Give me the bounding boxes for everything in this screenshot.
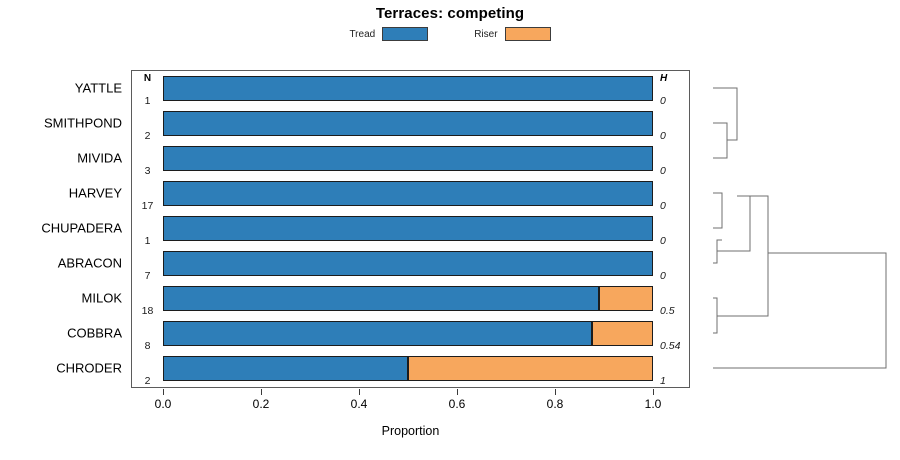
bar-segment-tread-smithpond[interactable]: [163, 111, 653, 136]
n-column: N 12317171882: [133, 70, 162, 388]
category-label-cobbra: COBBRA: [67, 326, 122, 341]
dendrogram-svg: [690, 70, 900, 388]
bar-row-abracon[interactable]: [163, 251, 653, 276]
bar-segment-tread-mivida[interactable]: [163, 146, 653, 171]
n-value-mivida: 3: [133, 165, 162, 177]
bar-segment-tread-cobbra[interactable]: [163, 321, 592, 346]
h-column-header: H: [656, 73, 690, 84]
x-axis-title: Proportion: [131, 424, 690, 438]
bar-segment-riser-chroder[interactable]: [408, 356, 653, 381]
n-value-cobbra: 8: [133, 340, 162, 352]
h-value-chroder: 1: [656, 375, 692, 387]
h-value-cobbra: 0.54: [656, 340, 692, 352]
chart-canvas: Terraces: competing Tread Riser YATTLESM…: [0, 0, 900, 460]
h-value-harvey: 0: [656, 200, 692, 212]
bar-segment-tread-abracon[interactable]: [163, 251, 653, 276]
legend-item-riser[interactable]: Riser: [474, 27, 550, 41]
category-label-abracon: ABRACON: [58, 256, 122, 271]
n-value-harvey: 17: [133, 200, 162, 212]
chart-title: Terraces: competing: [0, 5, 900, 22]
bar-row-harvey[interactable]: [163, 181, 653, 206]
dendro-branch-milok-cobbra: [713, 298, 717, 333]
category-label-harvey: HARVEY: [69, 186, 122, 201]
dendro-branch-harvey-chupadera: [713, 193, 722, 228]
bar-segment-tread-harvey[interactable]: [163, 181, 653, 206]
chart-legend: Tread Riser: [0, 27, 900, 41]
dendro-branch-smithpond-mivida: [713, 123, 727, 158]
x-tick-label-4: 0.8: [547, 397, 564, 411]
dendro-branch-root: [713, 253, 886, 368]
bar-series-area: [163, 70, 653, 388]
dendro-branch-yattle-cluster: [713, 88, 737, 140]
n-value-chroder: 2: [133, 375, 162, 387]
bar-row-yattle[interactable]: [163, 76, 653, 101]
category-axis-labels: YATTLESMITHPONDMIVIDAHARVEYCHUPADERAABRA…: [0, 70, 128, 388]
bar-row-mivida[interactable]: [163, 146, 653, 171]
x-tick-5: [653, 389, 654, 395]
x-tick-2: [359, 389, 360, 395]
bar-segment-tread-milok[interactable]: [163, 286, 599, 311]
h-column: H 0000000.50.541: [656, 70, 690, 388]
x-tick-4: [555, 389, 556, 395]
category-label-chroder: CHRODER: [56, 361, 122, 376]
category-label-yattle: YATTLE: [75, 81, 122, 96]
dendro-branch-mid-merge: [717, 196, 768, 316]
x-tick-label-2: 0.4: [351, 397, 368, 411]
category-label-smithpond: SMITHPOND: [44, 116, 122, 131]
bar-row-milok[interactable]: [163, 286, 653, 311]
h-value-chupadera: 0: [656, 235, 692, 247]
h-value-yattle: 0: [656, 95, 692, 107]
legend-swatch-riser: [505, 27, 551, 41]
bar-segment-tread-chupadera[interactable]: [163, 216, 653, 241]
bar-row-chupadera[interactable]: [163, 216, 653, 241]
legend-label-riser: Riser: [474, 29, 497, 40]
h-value-smithpond: 0: [656, 130, 692, 142]
h-value-milok: 0.5: [656, 305, 692, 317]
category-label-chupadera: CHUPADERA: [41, 221, 122, 236]
category-label-milok: MILOK: [82, 291, 122, 306]
n-value-yattle: 1: [133, 95, 162, 107]
h-value-mivida: 0: [656, 165, 692, 177]
legend-item-tread[interactable]: Tread: [349, 27, 428, 41]
bar-segment-tread-yattle[interactable]: [163, 76, 653, 101]
x-tick-0: [163, 389, 164, 395]
bar-row-chroder[interactable]: [163, 356, 653, 381]
x-tick-label-1: 0.2: [253, 397, 270, 411]
legend-swatch-tread: [382, 27, 428, 41]
x-tick-1: [261, 389, 262, 395]
x-tick-3: [457, 389, 458, 395]
x-tick-label-3: 0.6: [449, 397, 466, 411]
legend-label-tread: Tread: [349, 29, 375, 40]
bar-segment-riser-cobbra[interactable]: [592, 321, 653, 346]
bar-row-smithpond[interactable]: [163, 111, 653, 136]
x-axis: 0.00.20.40.60.81.0: [163, 389, 653, 429]
bar-segment-riser-milok[interactable]: [599, 286, 653, 311]
x-tick-label-0: 0.0: [155, 397, 172, 411]
x-tick-label-5: 1.0: [645, 397, 662, 411]
bar-segment-tread-chroder[interactable]: [163, 356, 408, 381]
n-value-smithpond: 2: [133, 130, 162, 142]
dendrogram: [690, 70, 900, 388]
n-value-milok: 18: [133, 305, 162, 317]
n-value-chupadera: 1: [133, 235, 162, 247]
bar-row-cobbra[interactable]: [163, 321, 653, 346]
n-value-abracon: 7: [133, 270, 162, 282]
n-column-header: N: [133, 73, 162, 84]
category-label-mivida: MIVIDA: [77, 151, 122, 166]
h-value-abracon: 0: [656, 270, 692, 282]
